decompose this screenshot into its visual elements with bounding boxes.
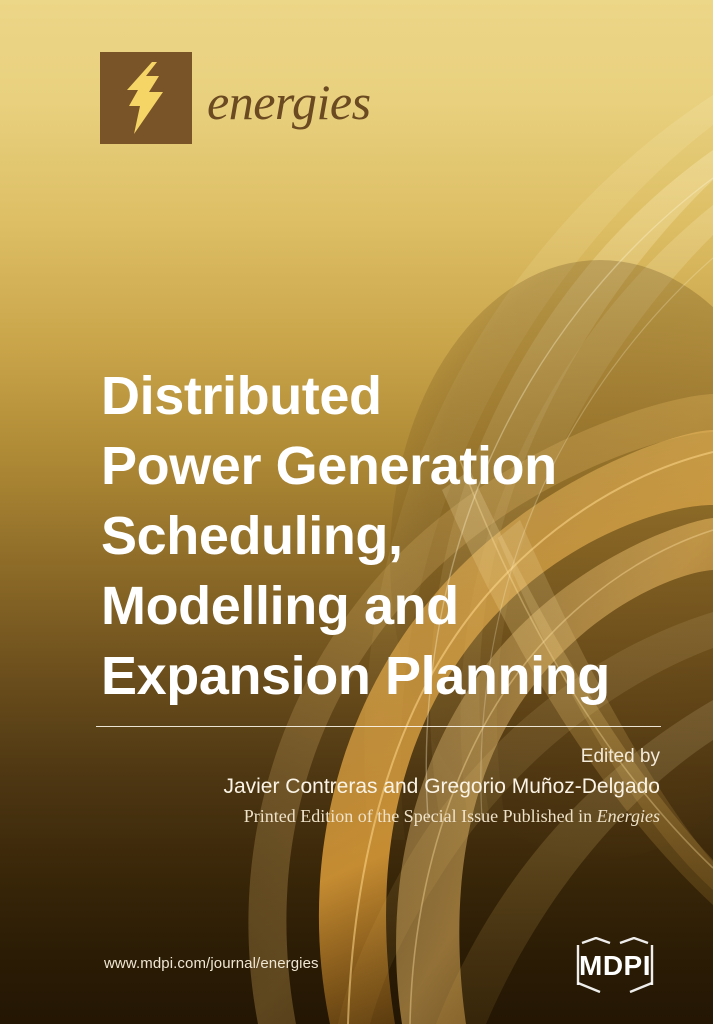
title-line-1: Distributed	[101, 361, 681, 431]
title-line-5: Expansion Planning	[101, 641, 681, 711]
mdpi-hexagon-logo[interactable]: MDPI	[560, 937, 670, 993]
title-divider	[96, 726, 661, 727]
printed-edition-journal: Energies	[597, 806, 660, 826]
title-line-2: Power Generation	[101, 431, 681, 501]
credits-block: Edited by Javier Contreras and Gregorio …	[40, 744, 660, 829]
printed-edition-note: Printed Edition of the Special Issue Pub…	[40, 803, 660, 829]
book-title: Distributed Power Generation Scheduling,…	[101, 361, 681, 711]
journal-name: energies	[207, 77, 371, 127]
journal-url[interactable]: www.mdpi.com/journal/energies	[104, 955, 319, 972]
title-line-4: Modelling and	[101, 571, 681, 641]
lightning-bolt-icon	[123, 62, 169, 134]
editor-names: Javier Contreras and Gregorio Muñoz-Delg…	[40, 772, 660, 802]
title-line-3: Scheduling,	[101, 501, 681, 571]
energies-logo-mark	[100, 52, 192, 144]
svg-text:MDPI: MDPI	[579, 950, 651, 981]
book-cover: energies Distributed Power Generation Sc…	[0, 0, 713, 1024]
journal-logo: energies	[100, 52, 371, 144]
edited-by-label: Edited by	[40, 744, 660, 770]
printed-edition-prefix: Printed Edition of the Special Issue Pub…	[244, 806, 597, 826]
